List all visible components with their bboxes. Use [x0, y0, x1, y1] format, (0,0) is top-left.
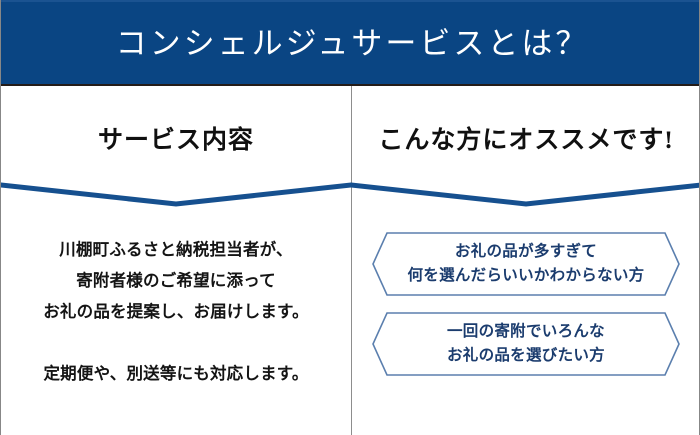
description-line: 定期便や、別送等にも対応します。 — [1, 358, 351, 389]
recommendation-badge: 一回の寄附でいろんな お礼の品を選びたい方 — [371, 311, 681, 377]
description-line-blank — [1, 327, 351, 358]
concierge-service-infographic: コンシェルジュサービスとは？ サービス内容 川棚町ふるさと納税担当者が、 寄附者… — [0, 0, 700, 435]
badge-line-1: 一回の寄附でいろんな — [447, 320, 605, 344]
recommendation-badge-text: 一回の寄附でいろんな お礼の品を選びたい方 — [371, 311, 681, 377]
zigzag-divider-right — [351, 179, 700, 209]
badge-line-2: お礼の品を選びたい方 — [447, 344, 605, 368]
content-area: サービス内容 川棚町ふるさと納税担当者が、 寄附者様のご希望に添って お礼の品を… — [1, 86, 700, 435]
description-line: お礼の品を提案し、お届けします。 — [1, 296, 351, 327]
description-line: 川棚町ふるさと納税担当者が、 — [1, 234, 351, 265]
badge-line-2: 何を選んだらいいかわからない方 — [407, 264, 644, 288]
header-banner: コンシェルジュサービスとは？ — [1, 0, 700, 86]
column-service-content: サービス内容 川棚町ふるさと納税担当者が、 寄附者様のご希望に添って お礼の品を… — [1, 86, 351, 435]
column-heading-left: サービス内容 — [1, 127, 351, 155]
recommendation-badge: お礼の品が多すぎて 何を選んだらいいかわからない方 — [371, 231, 681, 297]
column-recommended-for: こんな方にオススメです! お礼の品が多すぎて 何を選んだらいいかわからない方 — [351, 86, 700, 435]
badge-line-1: お礼の品が多すぎて — [455, 240, 597, 264]
description-line: 寄附者様のご希望に添って — [1, 265, 351, 296]
recommendation-badge-list: お礼の品が多すぎて 何を選んだらいいかわからない方 一回の寄附でいろんな お礼の… — [351, 231, 700, 391]
column-heading-right: こんな方にオススメです! — [351, 127, 700, 155]
service-description: 川棚町ふるさと納税担当者が、 寄附者様のご希望に添って お礼の品を提案し、お届け… — [1, 234, 351, 389]
page-title: コンシェルジュサービスとは？ — [113, 28, 590, 59]
zigzag-divider-left — [1, 179, 351, 209]
recommendation-badge-text: お礼の品が多すぎて 何を選んだらいいかわからない方 — [371, 231, 681, 297]
